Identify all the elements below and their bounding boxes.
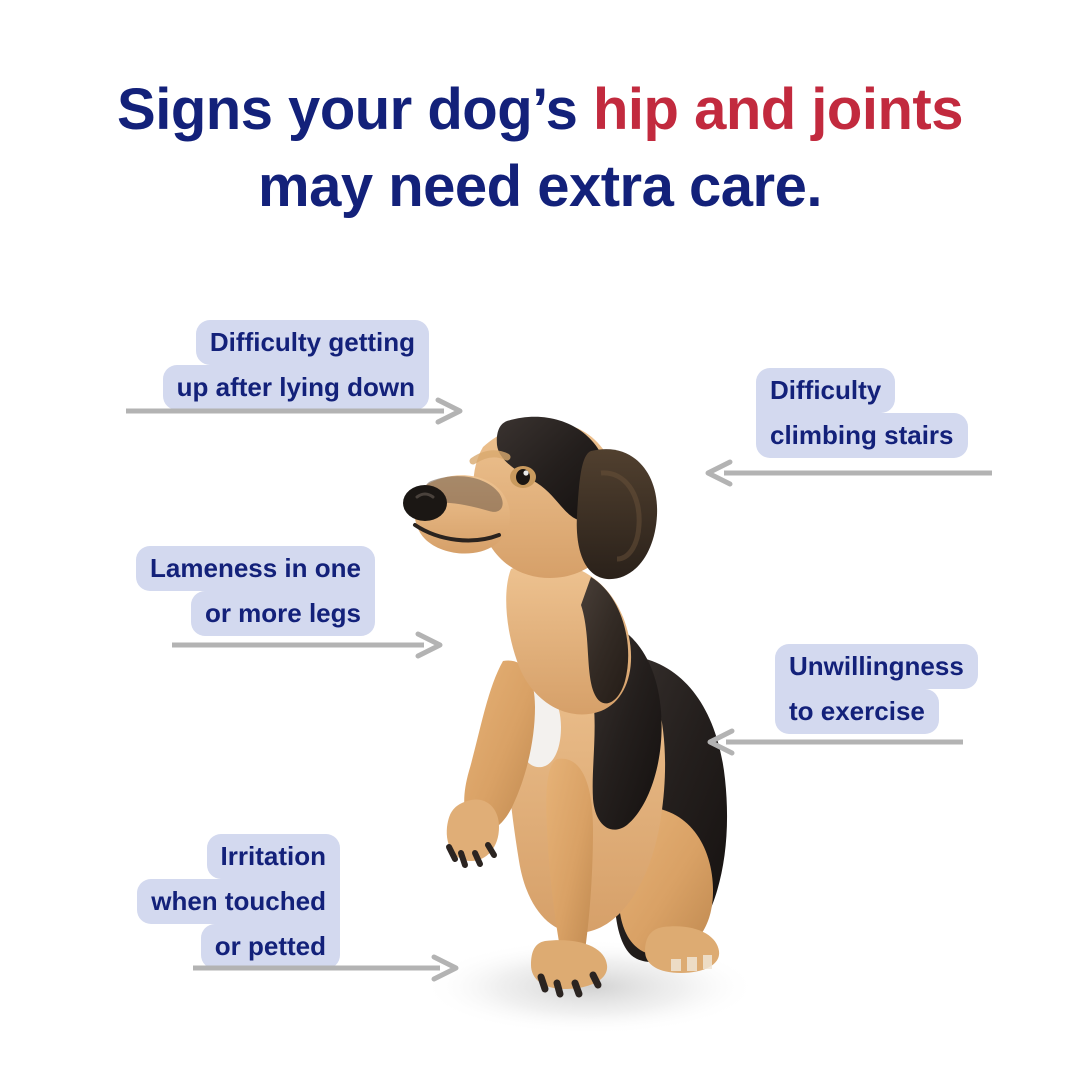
callout-line: Lameness in one — [100, 546, 375, 591]
dog-nose — [403, 485, 447, 521]
callout-line: Irritation — [108, 834, 340, 879]
callout-difficulty-climbing-stairs: Difficulty climbing stairs — [756, 368, 1006, 458]
callout-unwillingness-to-exercise: Unwillingness to exercise — [775, 644, 1003, 734]
arrow-right-difficulty-getting-up — [126, 398, 462, 424]
callout-text-block: Difficulty climbing stairs — [756, 368, 1006, 458]
title-segment-3: may need extra care. — [258, 154, 822, 219]
callout-line: to exercise — [775, 689, 1003, 734]
page-title: Signs your dog’s hip and joints may need… — [0, 72, 1080, 225]
callout-line: climbing stairs — [756, 413, 1006, 458]
arrow-right-lameness-in-legs — [172, 632, 442, 658]
callout-line: when touched — [108, 879, 340, 924]
callout-line: Difficulty — [756, 368, 1006, 413]
title-segment-1: Signs your dog’s — [117, 77, 593, 142]
callout-line: Unwillingness — [775, 644, 1003, 689]
title-segment-accent: hip and joints — [593, 77, 963, 142]
arrow-right-irritation-when-touched — [193, 955, 458, 981]
callout-lameness-in-legs: Lameness in one or more legs — [100, 546, 375, 636]
callout-line: Difficulty getting — [124, 320, 429, 365]
arrow-left-difficulty-climbing-stairs — [706, 460, 992, 486]
callout-difficulty-getting-up: Difficulty getting up after lying down — [124, 320, 429, 410]
dog-ear — [577, 449, 657, 579]
callout-text-block: Irritation when touched or petted — [108, 834, 340, 969]
arrow-left-unwillingness-to-exercise — [708, 729, 963, 755]
callout-line: or more legs — [100, 591, 375, 636]
dog-front-leg — [546, 759, 593, 964]
callout-text-block: Difficulty getting up after lying down — [124, 320, 429, 410]
callout-text-block: Unwillingness to exercise — [775, 644, 1003, 734]
callout-text-block: Lameness in one or more legs — [100, 546, 375, 636]
callout-irritation-when-touched: Irritation when touched or petted — [108, 834, 340, 969]
dog-photo — [395, 355, 775, 1045]
